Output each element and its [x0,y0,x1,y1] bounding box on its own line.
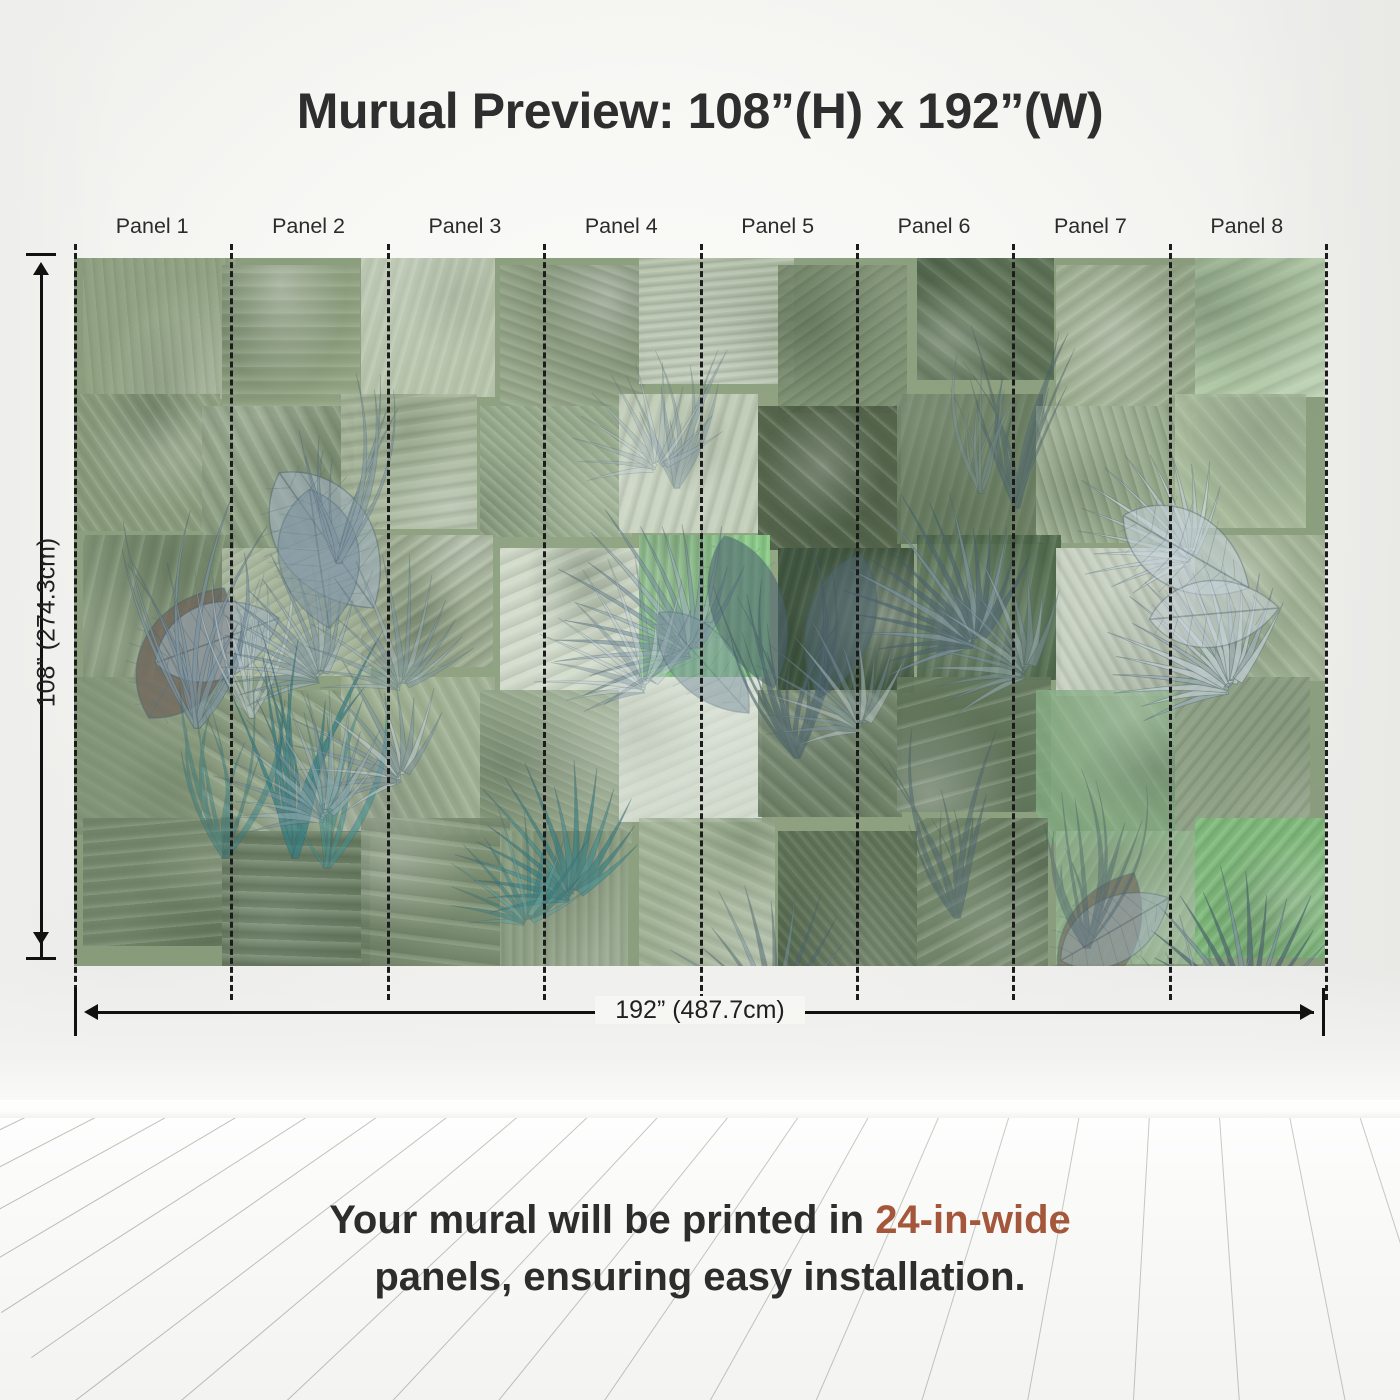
panel-label-5: Panel 5 [700,214,856,239]
panel-label-7: Panel 7 [1012,214,1168,239]
panel-label-6: Panel 6 [856,214,1012,239]
fan-palm-motif [451,809,590,926]
height-cap-bottom [26,957,56,960]
panel-label-2: Panel 2 [230,214,386,239]
caption-line-1: Your mural will be printed in 24-in-wide [0,1192,1400,1249]
fan-palm-motif [1139,866,1325,966]
width-label: 192” (487.7cm) [0,996,1400,1025]
caption-line-1-before: Your mural will be printed in [329,1198,875,1242]
height-cap-top [26,253,56,256]
height-arrow-up [33,262,49,275]
panel-label-8: Panel 8 [1169,214,1325,239]
panel-label-1: Panel 1 [74,214,230,239]
caption-accent: 24-in-wide [875,1198,1071,1242]
panel-label-3: Panel 3 [387,214,543,239]
panel-separator-0 [74,244,77,1000]
height-label: 108” (274.3cm) [33,293,62,953]
panel-separator-6 [1012,244,1015,1000]
floor-plank [0,1118,1181,1169]
caption-line-2: panels, ensuring easy installation. [0,1249,1400,1306]
floor-plank [1180,1118,1400,1196]
panel-separator-7 [1169,244,1172,1000]
caption: Your mural will be printed in 24-in-wide… [0,1192,1400,1306]
panel-label-4: Panel 4 [543,214,699,239]
fan-palm-motif [670,885,846,966]
panel-separator-2 [387,244,390,1000]
panel-separator-3 [543,244,546,1000]
page-title: Murual Preview: 108”(H) x 192”(W) [0,82,1400,140]
baseboard [0,1100,1400,1120]
panel-separator-4 [700,244,703,1000]
grass-blade-motif [861,728,997,918]
width-label-text: 192” (487.7cm) [595,996,805,1024]
panel-separator-8 [1325,244,1328,1000]
panel-separator-1 [230,244,233,1000]
panel-separator-5 [856,244,859,1000]
